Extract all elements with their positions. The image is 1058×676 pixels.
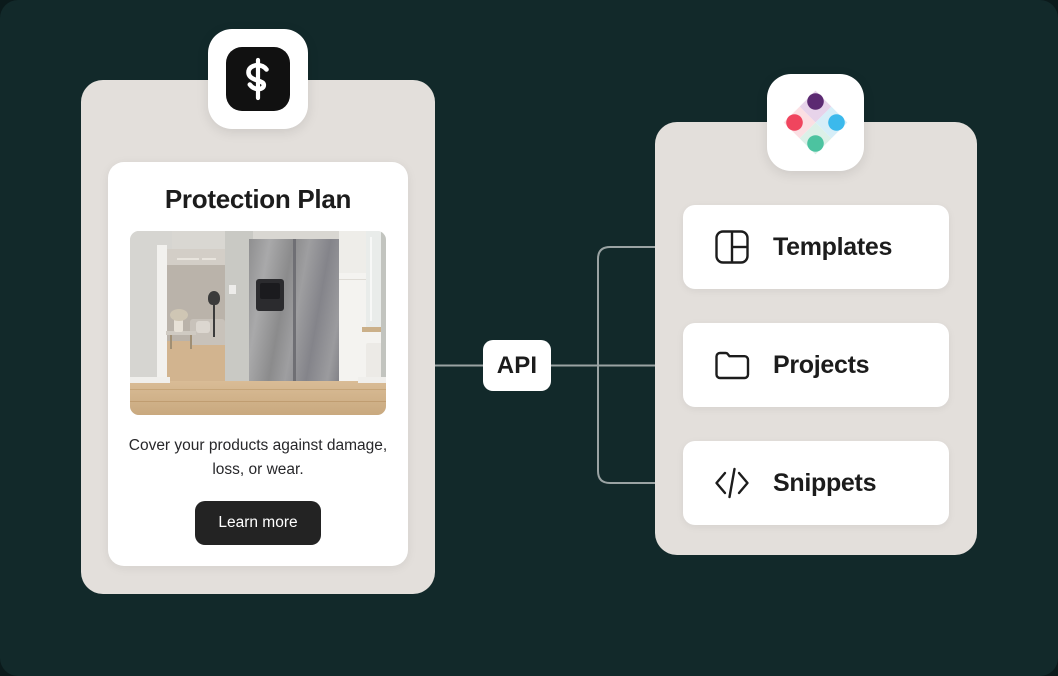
layout-panel-icon [712,227,752,267]
diagram-canvas: Protection Plan [0,0,1058,676]
api-node[interactable]: API [483,340,551,391]
learn-more-button[interactable]: Learn more [195,501,321,545]
stripe-mark-icon [226,47,290,111]
code-icon [712,463,752,503]
feature-card-label: Snippets [773,441,876,525]
stripe-logo [208,29,308,129]
protection-plan-card[interactable]: Protection Plan [108,162,408,566]
folder-icon [712,345,752,385]
feature-card-snippets[interactable]: Snippets [683,441,949,525]
feature-card-label: Templates [773,205,892,289]
product-photo [130,231,386,415]
protection-plan-description: Cover your products against damage, loss… [126,434,390,482]
feature-card-projects[interactable]: Projects [683,323,949,407]
contentful-logo [767,74,864,171]
feature-card-label: Projects [773,323,869,407]
page-title: Protection Plan [108,184,408,215]
feature-card-templates[interactable]: Templates [683,205,949,289]
contentful-mark-icon [781,88,850,157]
